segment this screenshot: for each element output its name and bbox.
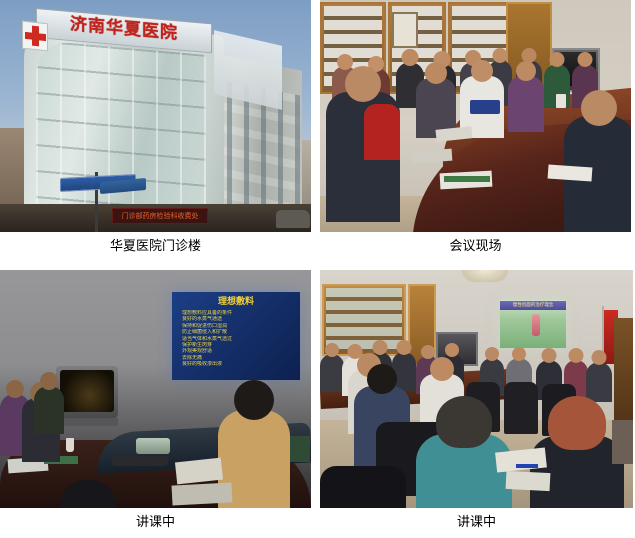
paper-cup	[66, 438, 74, 452]
photo-meeting-room	[320, 0, 631, 232]
side-furniture	[612, 420, 633, 464]
attendee	[34, 386, 64, 434]
slide-bullet-list: 理想敷料应具备的条件 良好的水蒸气通透 保持和促进伤口湿润 防止细菌侵入和扩散 …	[182, 310, 294, 368]
office-chair-foreground	[320, 466, 406, 508]
photo-audience-lecture: 慢性创面的治疗理念	[320, 270, 633, 508]
pen	[516, 464, 538, 468]
attendee	[508, 76, 544, 132]
monitor-stand	[62, 418, 118, 426]
projector-device	[136, 438, 170, 454]
photo-cell-audience-lecture: 慢性创面的治疗理念	[320, 270, 633, 532]
photo-cell-lecture-projection: 理想敷料 理想敷料应具备的条件 良好的水蒸气通透 保持和促进伤口湿润 防止细菌侵…	[0, 270, 311, 532]
photo-lecture-projection: 理想敷料 理想敷料应具备的条件 良好的水蒸气通透 保持和促进伤口湿润 防止细菌侵…	[0, 270, 311, 508]
display-cabinet-contents	[326, 288, 402, 352]
document-blue-folder	[470, 100, 500, 114]
photo-cell-meeting-room: 会议现场	[320, 0, 631, 256]
slide-bullet: 良好的吸收渗出液	[182, 361, 294, 367]
ceiling-light	[462, 270, 508, 282]
framed-wall-picture	[392, 12, 418, 48]
photo-caption-lecture-projection: 讲课中	[0, 508, 311, 532]
attendee	[586, 362, 612, 402]
photo-caption-hospital-building: 华夏医院门诊楼	[0, 232, 311, 256]
cable-bundle	[112, 456, 168, 466]
paper-cup	[556, 94, 566, 108]
attendee	[320, 354, 344, 392]
document-green-band	[444, 176, 490, 182]
attendee-red-jacket	[364, 104, 400, 160]
storefront-sign-text: 门诊部药房检验科收费处	[114, 210, 206, 222]
photo-hospital-building: 济南华夏医院 门诊部药房检验科收费处	[0, 0, 311, 232]
parked-car	[276, 210, 310, 228]
slide-title: 理想敷料	[172, 296, 300, 308]
document-sheet	[506, 471, 551, 491]
office-chair	[504, 382, 538, 434]
photo-report-page: 济南华夏医院 门诊部药房检验科收费处 华夏医院门诊楼	[0, 0, 635, 538]
slide-header: 慢性创面的治疗理念	[500, 301, 566, 310]
document-green-booklet	[290, 436, 310, 462]
document-folder	[172, 482, 233, 505]
photo-cell-hospital-building: 济南华夏医院 门诊部药房检验科收费处 华夏医院门诊楼	[0, 0, 311, 256]
slide-person-photo	[532, 314, 540, 336]
photo-caption-meeting-room: 会议现场	[320, 232, 631, 256]
document-sheet	[548, 164, 593, 181]
crt-monitor-screen	[60, 370, 114, 412]
photo-caption-audience-lecture: 讲课中	[320, 508, 633, 532]
